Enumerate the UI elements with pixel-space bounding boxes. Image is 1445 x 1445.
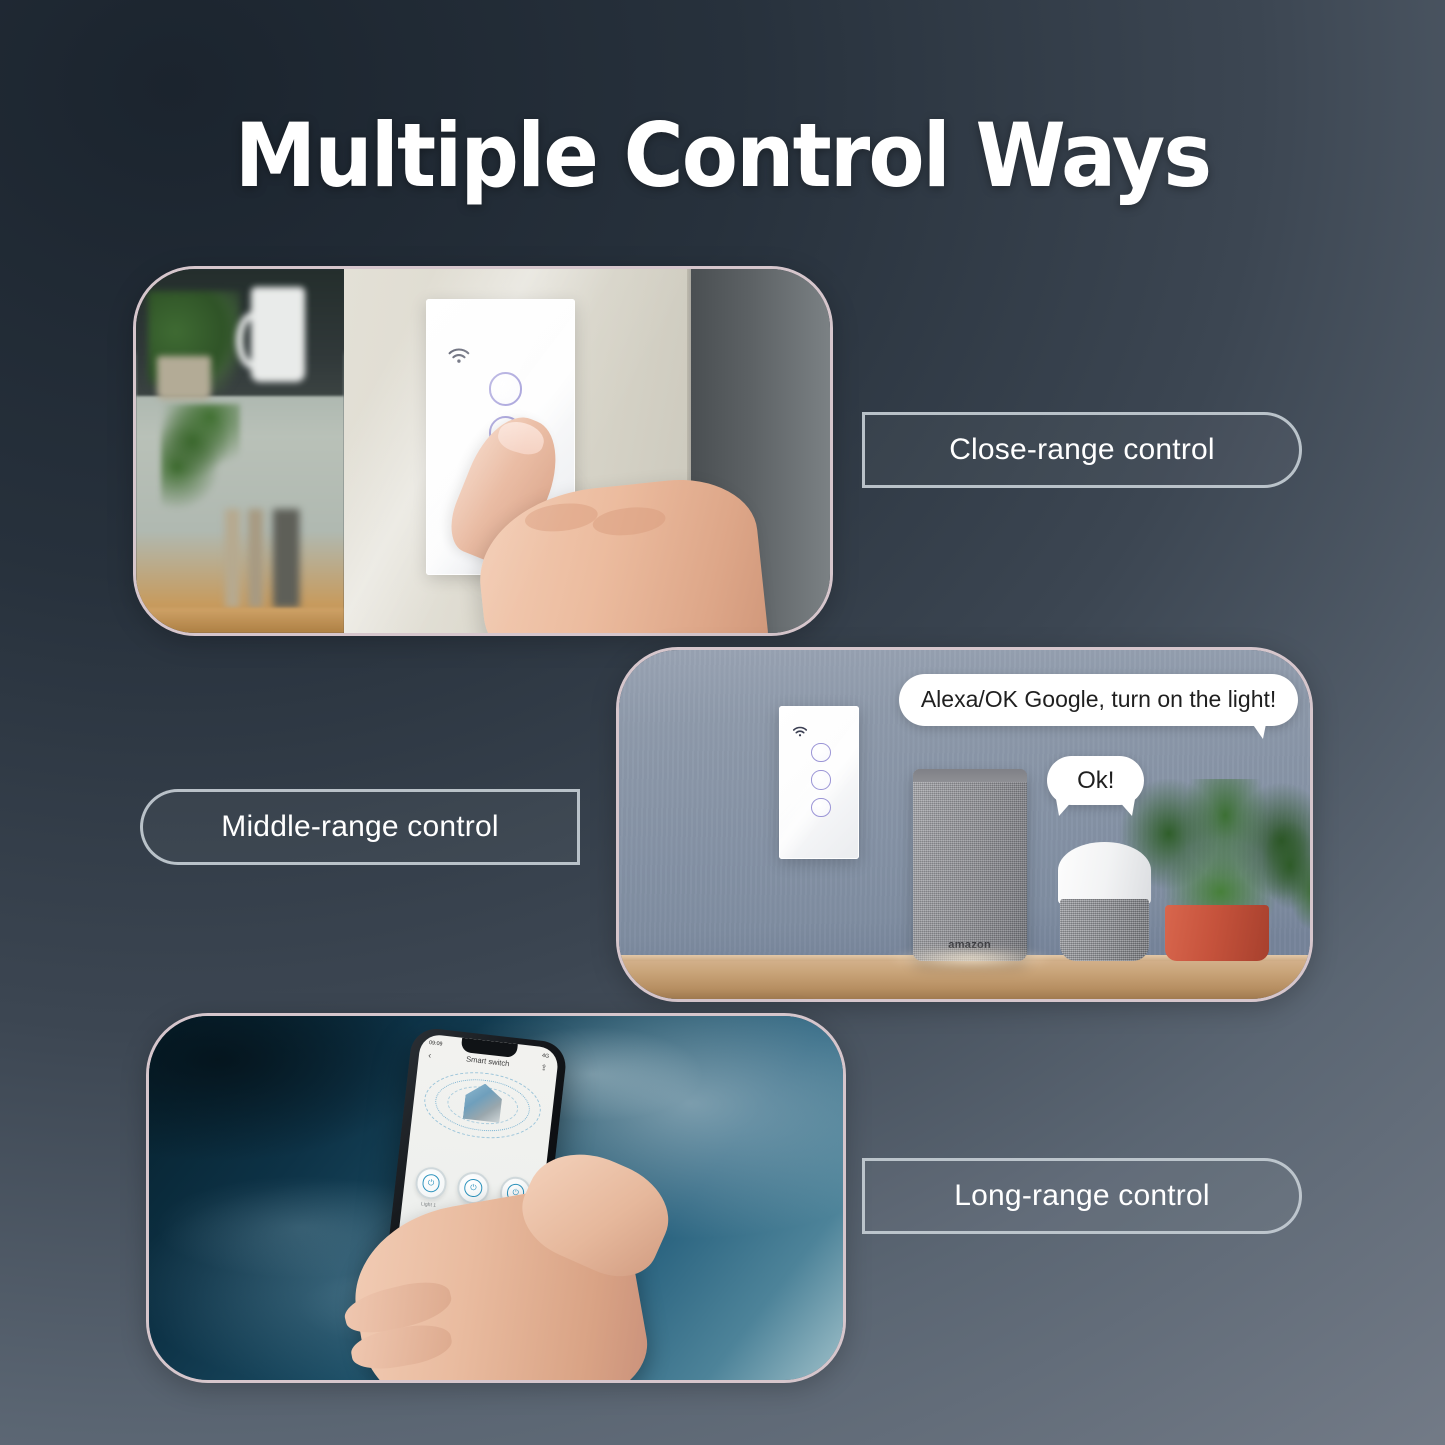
- google-home-speaker: [1058, 842, 1151, 961]
- echo-light-glow: [888, 948, 1054, 969]
- touch-button-3[interactable]: [811, 798, 830, 817]
- photo-card-close-range: [133, 266, 833, 636]
- status-signal: 4G: [542, 1053, 550, 1060]
- speech-bubble-voice-command: Alexa/OK Google, turn on the light!: [899, 674, 1298, 726]
- page-title: Multiple Control Ways: [51, 104, 1395, 207]
- touch-button-1[interactable]: [489, 372, 523, 406]
- shelf-bottles: [219, 509, 315, 607]
- smart-home-graphic: [418, 1060, 548, 1151]
- scene-voice-assistants: amazon Alexa/OK Google, turn on the ligh…: [619, 650, 1310, 999]
- kitchen-background: [136, 269, 344, 633]
- photo-card-long-range: 09:09 4G ‹ Smart switch ⇪: [146, 1013, 846, 1383]
- red-plant-pot: [1165, 905, 1269, 961]
- label-close-range-control[interactable]: Close-range control: [862, 412, 1302, 488]
- fingernail: [495, 417, 548, 458]
- amazon-echo-speaker: amazon: [913, 769, 1027, 961]
- knuckle: [591, 504, 666, 539]
- scene-wall-switch-touch: [136, 269, 830, 633]
- hand-pressing-switch: [455, 415, 774, 633]
- speech-bubble-assistant-reply: Ok!: [1047, 756, 1144, 805]
- label-text: Close-range control: [949, 433, 1215, 467]
- bubble-text: Ok!: [1077, 767, 1114, 795]
- smart-wall-switch[interactable]: [779, 706, 859, 860]
- hand-holding-phone: [336, 1154, 697, 1380]
- label-middle-range-control[interactable]: Middle-range control: [140, 789, 580, 865]
- label-text: Middle-range control: [221, 810, 498, 844]
- bubble-tail-right-icon: [1117, 799, 1135, 816]
- google-home-base: [1060, 899, 1150, 961]
- label-long-range-control[interactable]: Long-range control: [862, 1158, 1302, 1234]
- status-time: 09:09: [429, 1040, 443, 1047]
- hanging-vine-icon: [161, 404, 240, 513]
- touch-button-1[interactable]: [811, 743, 830, 762]
- scene-phone-app: 09:09 4G ‹ Smart switch ⇪: [149, 1016, 843, 1380]
- bubble-tail-icon: [1247, 719, 1267, 739]
- echo-top-ring: [913, 769, 1027, 782]
- bubble-text: Alexa/OK Google, turn on the light!: [921, 686, 1276, 713]
- wifi-icon: [792, 726, 808, 738]
- google-home-top: [1058, 842, 1151, 904]
- label-text: Long-range control: [954, 1179, 1209, 1213]
- coffee-mug: [251, 287, 305, 382]
- photo-card-middle-range: amazon Alexa/OK Google, turn on the ligh…: [616, 647, 1313, 1002]
- wifi-icon: [447, 344, 471, 369]
- bubble-tail-left-icon: [1056, 799, 1074, 816]
- poster-root: Multiple Control Ways: [0, 0, 1445, 1445]
- lower-shelf: [136, 608, 344, 633]
- knuckle: [523, 500, 598, 535]
- touch-button-2[interactable]: [811, 770, 830, 789]
